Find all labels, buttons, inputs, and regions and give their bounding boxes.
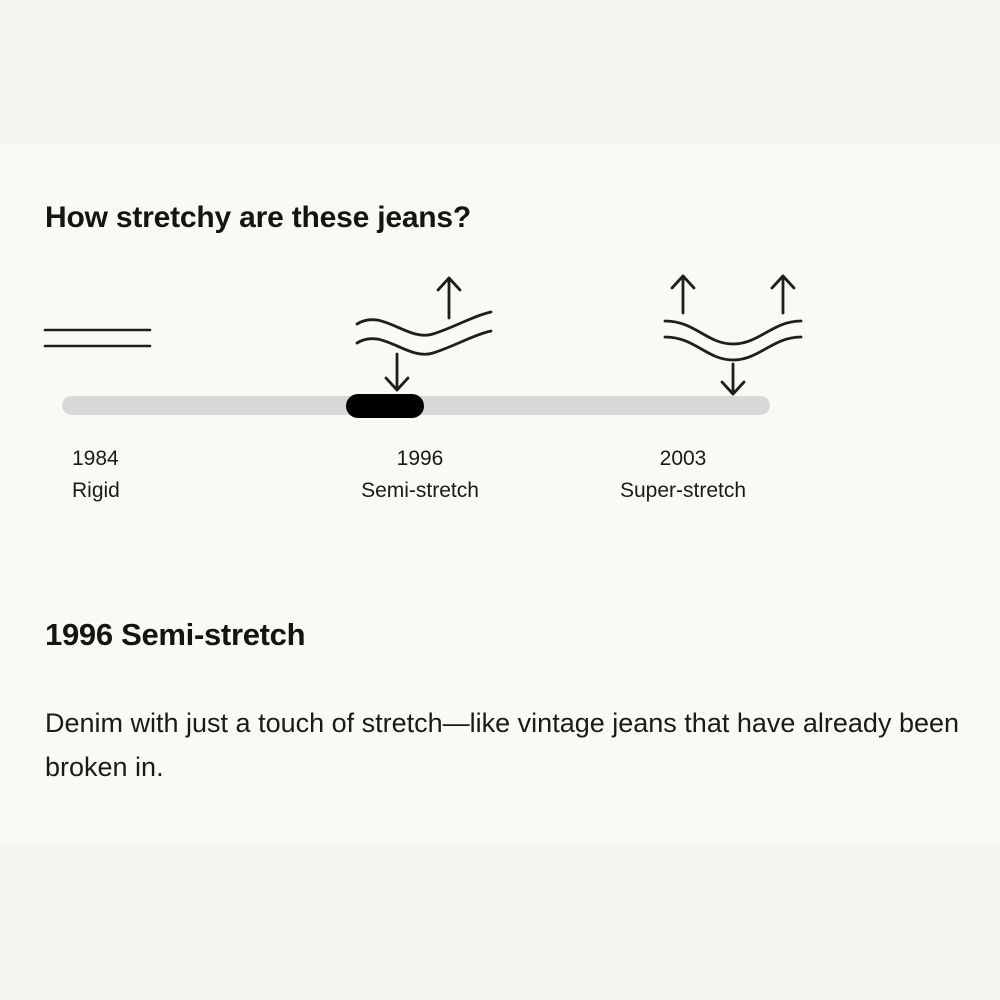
page-title: How stretchy are these jeans? [45,201,471,235]
stretch-icon-row [0,268,1000,398]
tick-year: 1996 [300,443,540,475]
wavy-lines-arrows-icon [345,268,505,398]
tick-label: Rigid [72,475,120,507]
stretch-selector-card: How stretchy are these jeans? [0,143,1000,845]
slider-tick-1984[interactable]: 1984 Rigid [72,443,120,507]
tick-label: Semi-stretch [300,475,540,507]
selected-option-heading: 1996 Semi-stretch [45,617,305,653]
slider-thumb[interactable] [346,394,424,418]
slider-tick-1996[interactable]: 1996 Semi-stretch [300,443,540,507]
straight-lines-icon [40,268,170,398]
slider-tick-labels: 1984 Rigid 1996 Semi-stretch 2003 Super-… [0,443,1000,523]
selected-option-description: Denim with just a touch of stretch—like … [45,701,970,789]
tick-year: 2003 [580,443,786,475]
slider-tick-2003[interactable]: 2003 Super-stretch [580,443,786,507]
sagging-waves-arrows-icon [655,268,815,398]
tick-year: 1984 [72,443,120,475]
tick-label: Super-stretch [580,475,786,507]
stretch-level-slider[interactable] [62,396,770,415]
